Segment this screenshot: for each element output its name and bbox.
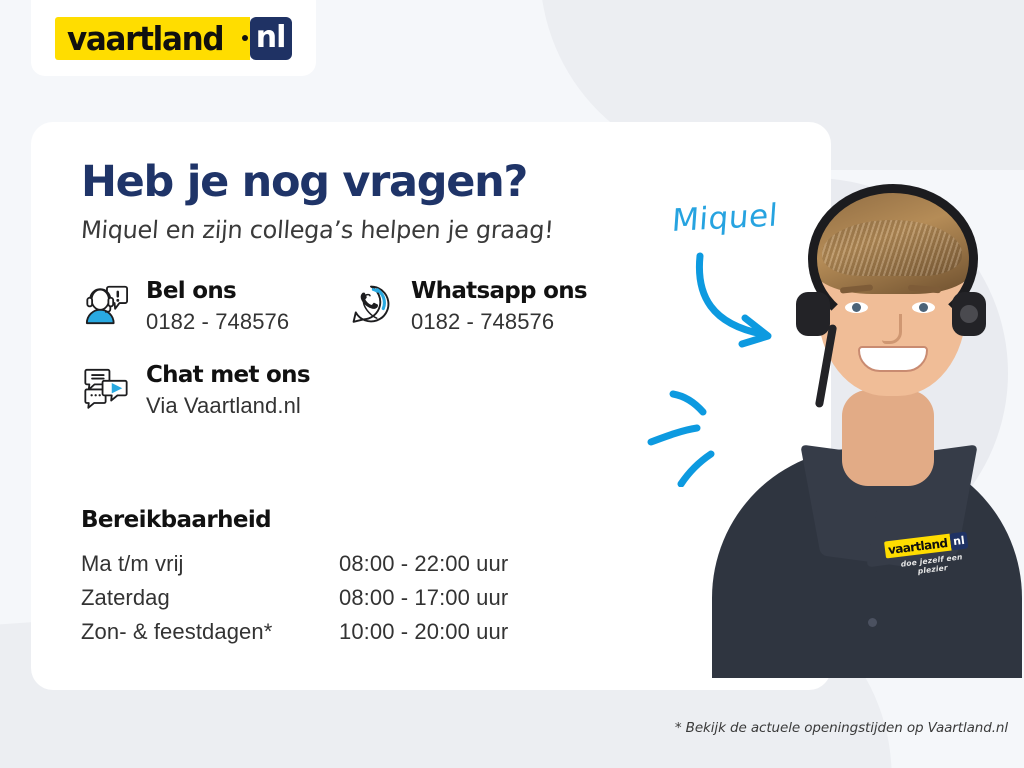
contact-whatsapp-title: Whatsapp ons	[411, 278, 587, 305]
opening-hours-title: Bereikbaarheid	[81, 507, 508, 533]
hours-time: 10:00 - 20:00 uur	[339, 615, 508, 649]
chat-bubbles-play-icon	[81, 361, 131, 413]
contact-whatsapp-number[interactable]: 0182 - 748576	[411, 307, 587, 337]
table-row: Zon- & feestdagen* 10:00 - 20:00 uur	[81, 615, 508, 649]
contact-method-call[interactable]: Bel ons 0182 - 748576	[81, 277, 346, 337]
agent-portrait: vaartland nl doe jezelf een plezier	[700, 118, 1024, 678]
hours-day: Zon- & feestdagen*	[81, 615, 339, 649]
polo-logo-wordmark: vaartland	[887, 536, 948, 555]
opening-hours-table: Ma t/m vrij 08:00 - 22:00 uur Zaterdag 0…	[81, 547, 508, 649]
neck	[842, 390, 934, 486]
polo-button	[868, 618, 877, 627]
contact-method-whatsapp-text: Whatsapp ons 0182 - 748576	[411, 277, 587, 337]
agent-photo: vaartland nl doe jezelf een plezier	[700, 118, 1024, 678]
contact-method-call-text: Bel ons 0182 - 748576	[146, 277, 289, 337]
headset-earcup-right	[952, 292, 986, 336]
hours-time: 08:00 - 17:00 uur	[339, 581, 508, 615]
opening-hours-section: Bereikbaarheid Ma t/m vrij 08:00 - 22:00…	[81, 507, 508, 649]
table-row: Ma t/m vrij 08:00 - 22:00 uur	[81, 547, 508, 581]
contact-call-number[interactable]: 0182 - 748576	[146, 307, 289, 337]
whatsapp-phone-bubble-icon	[346, 277, 396, 329]
smile	[858, 346, 928, 372]
polo-logo-tld: nl	[952, 535, 965, 547]
contact-method-whatsapp[interactable]: Whatsapp ons 0182 - 748576	[346, 277, 646, 337]
hours-day: Zaterdag	[81, 581, 339, 615]
contact-row-primary: Bel ons 0182 - 748576 Whatsapp ons	[81, 277, 781, 337]
contact-method-chat-text: Chat met ons Via Vaartland.nl	[146, 361, 310, 421]
hours-day: Ma t/m vrij	[81, 547, 339, 581]
logo-dot-separator	[242, 17, 250, 60]
vaartland-logo[interactable]: vaartland nl	[55, 17, 293, 60]
footnote: * Bekijk de actuele openingstijden op Va…	[0, 720, 1008, 736]
logo-tld-block: nl	[250, 17, 293, 60]
hours-time: 08:00 - 22:00 uur	[339, 547, 508, 581]
logo-wordmark: vaartland	[67, 22, 223, 55]
logo-card: vaartland nl	[31, 0, 316, 76]
logo-wordmark-block: vaartland	[55, 17, 242, 60]
contact-chat-link[interactable]: Via Vaartland.nl	[146, 391, 310, 421]
polo-logo-tld-block: nl	[949, 531, 969, 550]
headset-earcup-left	[796, 292, 830, 336]
contact-chat-title: Chat met ons	[146, 362, 310, 389]
headset-person-icon	[81, 277, 131, 329]
contact-call-title: Bel ons	[146, 278, 289, 305]
table-row: Zaterdag 08:00 - 17:00 uur	[81, 581, 508, 615]
logo-tld: nl	[256, 23, 286, 53]
